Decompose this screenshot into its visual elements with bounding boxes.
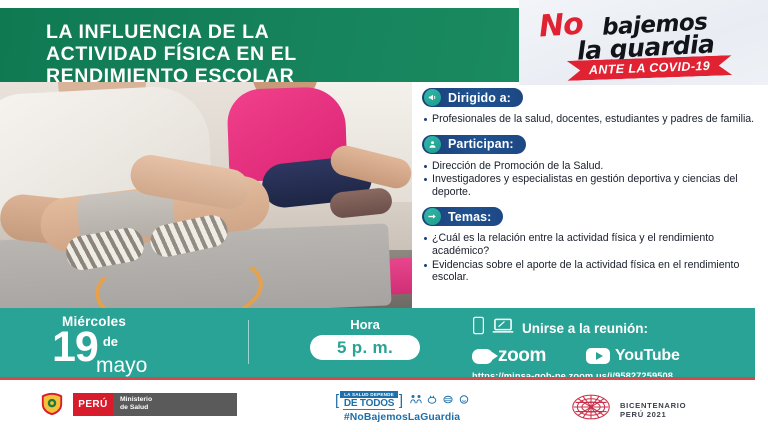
list-item: Evidencias sobre el aporte de la activid… xyxy=(424,259,768,284)
person-badge-icon xyxy=(424,136,441,153)
bracket-left-icon: [ xyxy=(335,392,339,409)
list-item: Investigadores y especialistas en gestió… xyxy=(424,173,768,198)
bicentenario-line-2: PERÚ 2021 xyxy=(620,410,686,419)
phone-icon xyxy=(472,316,485,340)
bicentenario-text: BICENTENARIO PERÚ 2021 xyxy=(620,401,686,419)
bicentenario-mark-icon xyxy=(570,392,612,427)
webinar-poster: LA INFLUENCIA DE LA ACTIVIDAD FÍSICA EN … xyxy=(0,0,768,432)
date-de-word: de xyxy=(103,334,118,349)
list-item-text: Evidencias sobre el aporte de la activid… xyxy=(432,259,768,284)
band-divider xyxy=(248,320,249,364)
bullet-dot xyxy=(424,178,427,181)
list-item-text: Profesionales de la salud, docentes, est… xyxy=(432,113,768,126)
youtube-label: YouTube xyxy=(615,347,680,365)
list-item: Dirección de Promoción de la Salud. xyxy=(424,160,768,173)
bullet-dot xyxy=(424,237,427,240)
list-item-text: ¿Cuál es la relación entre la actividad … xyxy=(432,232,768,257)
content-panel: Dirigido a: Profesionales de la salud, d… xyxy=(412,85,768,308)
zoom-label: zoom xyxy=(498,345,546,367)
campaign-hashtag: #NoBajemosLaGuardia xyxy=(334,412,470,423)
bullet-dot xyxy=(424,118,427,121)
health-campaign-block: [ LA SALUD DEPENDE DE TODOS ] xyxy=(334,391,470,423)
time-label: Hora xyxy=(310,317,420,332)
title-line-1: LA INFLUENCIA DE LA xyxy=(46,21,506,43)
zoom-camera-icon xyxy=(472,349,493,364)
peru-coat-of-arms-icon xyxy=(38,392,66,416)
time-value: 5 p. m. xyxy=(310,335,420,360)
youtube-play-icon xyxy=(586,348,610,364)
date-day-number: 19 xyxy=(52,327,98,367)
section-label-temas: Temas: xyxy=(448,210,491,224)
join-meeting-block: Unirse a la reunión: zoom YouTube https:… xyxy=(472,316,742,381)
section-pill-dirigido-a: Dirigido a: xyxy=(422,88,523,107)
distance-icon xyxy=(410,392,422,410)
bullet-dot xyxy=(424,165,427,168)
list-item: ¿Cuál es la relación entre la actividad … xyxy=(424,232,768,257)
section-body-participan: Dirección de Promoción de la Salud. Inve… xyxy=(412,160,768,199)
peru-label: PERÚ xyxy=(73,393,113,416)
bracket-right-icon: ] xyxy=(399,392,403,409)
youtube-logo[interactable]: YouTube xyxy=(586,347,680,365)
join-label: Unirse a la reunión: xyxy=(522,321,648,336)
salud-bottom-text: DE TODOS xyxy=(343,398,395,410)
header-banner: LA INFLUENCIA DE LA ACTIVIDAD FÍSICA EN … xyxy=(0,8,519,82)
date-month: mayo xyxy=(96,354,147,377)
title-line-2: ACTIVIDAD FÍSICA EN EL xyxy=(46,43,506,65)
list-item-text: Dirección de Promoción de la Salud. xyxy=(432,160,768,173)
campaign-logo: No bajemos la guardia ANTE LA COVID-19 xyxy=(519,0,768,85)
list-item: Profesionales de la salud, docentes, est… xyxy=(424,113,768,126)
salud-top-text: LA SALUD DEPENDE xyxy=(340,391,398,398)
handwash-icon xyxy=(426,392,438,410)
bicentenario-logo: BICENTENARIO PERÚ 2021 xyxy=(570,392,686,427)
section-label-dirigido-a: Dirigido a: xyxy=(448,91,511,105)
arrow-plus-icon xyxy=(424,208,441,225)
section-body-temas: ¿Cuál es la relación entre la actividad … xyxy=(412,232,768,283)
laptop-icon xyxy=(492,317,514,340)
event-time: Hora 5 p. m. xyxy=(310,317,420,360)
footer-bar: PERÚ Ministerio de Salud [ LA SALUD DEPE… xyxy=(0,380,768,432)
ministry-name: Ministerio de Salud xyxy=(113,393,237,416)
list-item-text: Investigadores y especialistas en gestió… xyxy=(432,173,768,198)
event-info-band: Miércoles 19 de mayo Hora 5 p. m. U xyxy=(0,308,755,379)
event-date: Miércoles 19 de mayo xyxy=(52,314,147,378)
bullet-dot xyxy=(424,264,427,267)
megaphone-icon xyxy=(424,89,441,106)
ministry-logo: PERÚ Ministerio de Salud xyxy=(38,392,237,416)
bicentenario-line-1: BICENTENARIO xyxy=(620,401,686,410)
page-title: LA INFLUENCIA DE LA ACTIVIDAD FÍSICA EN … xyxy=(46,21,506,87)
face-icon xyxy=(458,392,470,410)
ministry-line-2: de Salud xyxy=(120,404,237,412)
section-label-participan: Participan: xyxy=(448,137,514,151)
section-body-dirigido-a: Profesionales de la salud, docentes, est… xyxy=(412,113,768,126)
zoom-logo[interactable]: zoom xyxy=(472,345,546,367)
kids-yoga-photo xyxy=(0,82,412,308)
section-pill-participan: Participan: xyxy=(422,135,526,154)
ministry-line-1: Ministerio xyxy=(120,396,237,404)
section-pill-temas: Temas: xyxy=(422,207,503,226)
mask-icon xyxy=(442,392,454,410)
